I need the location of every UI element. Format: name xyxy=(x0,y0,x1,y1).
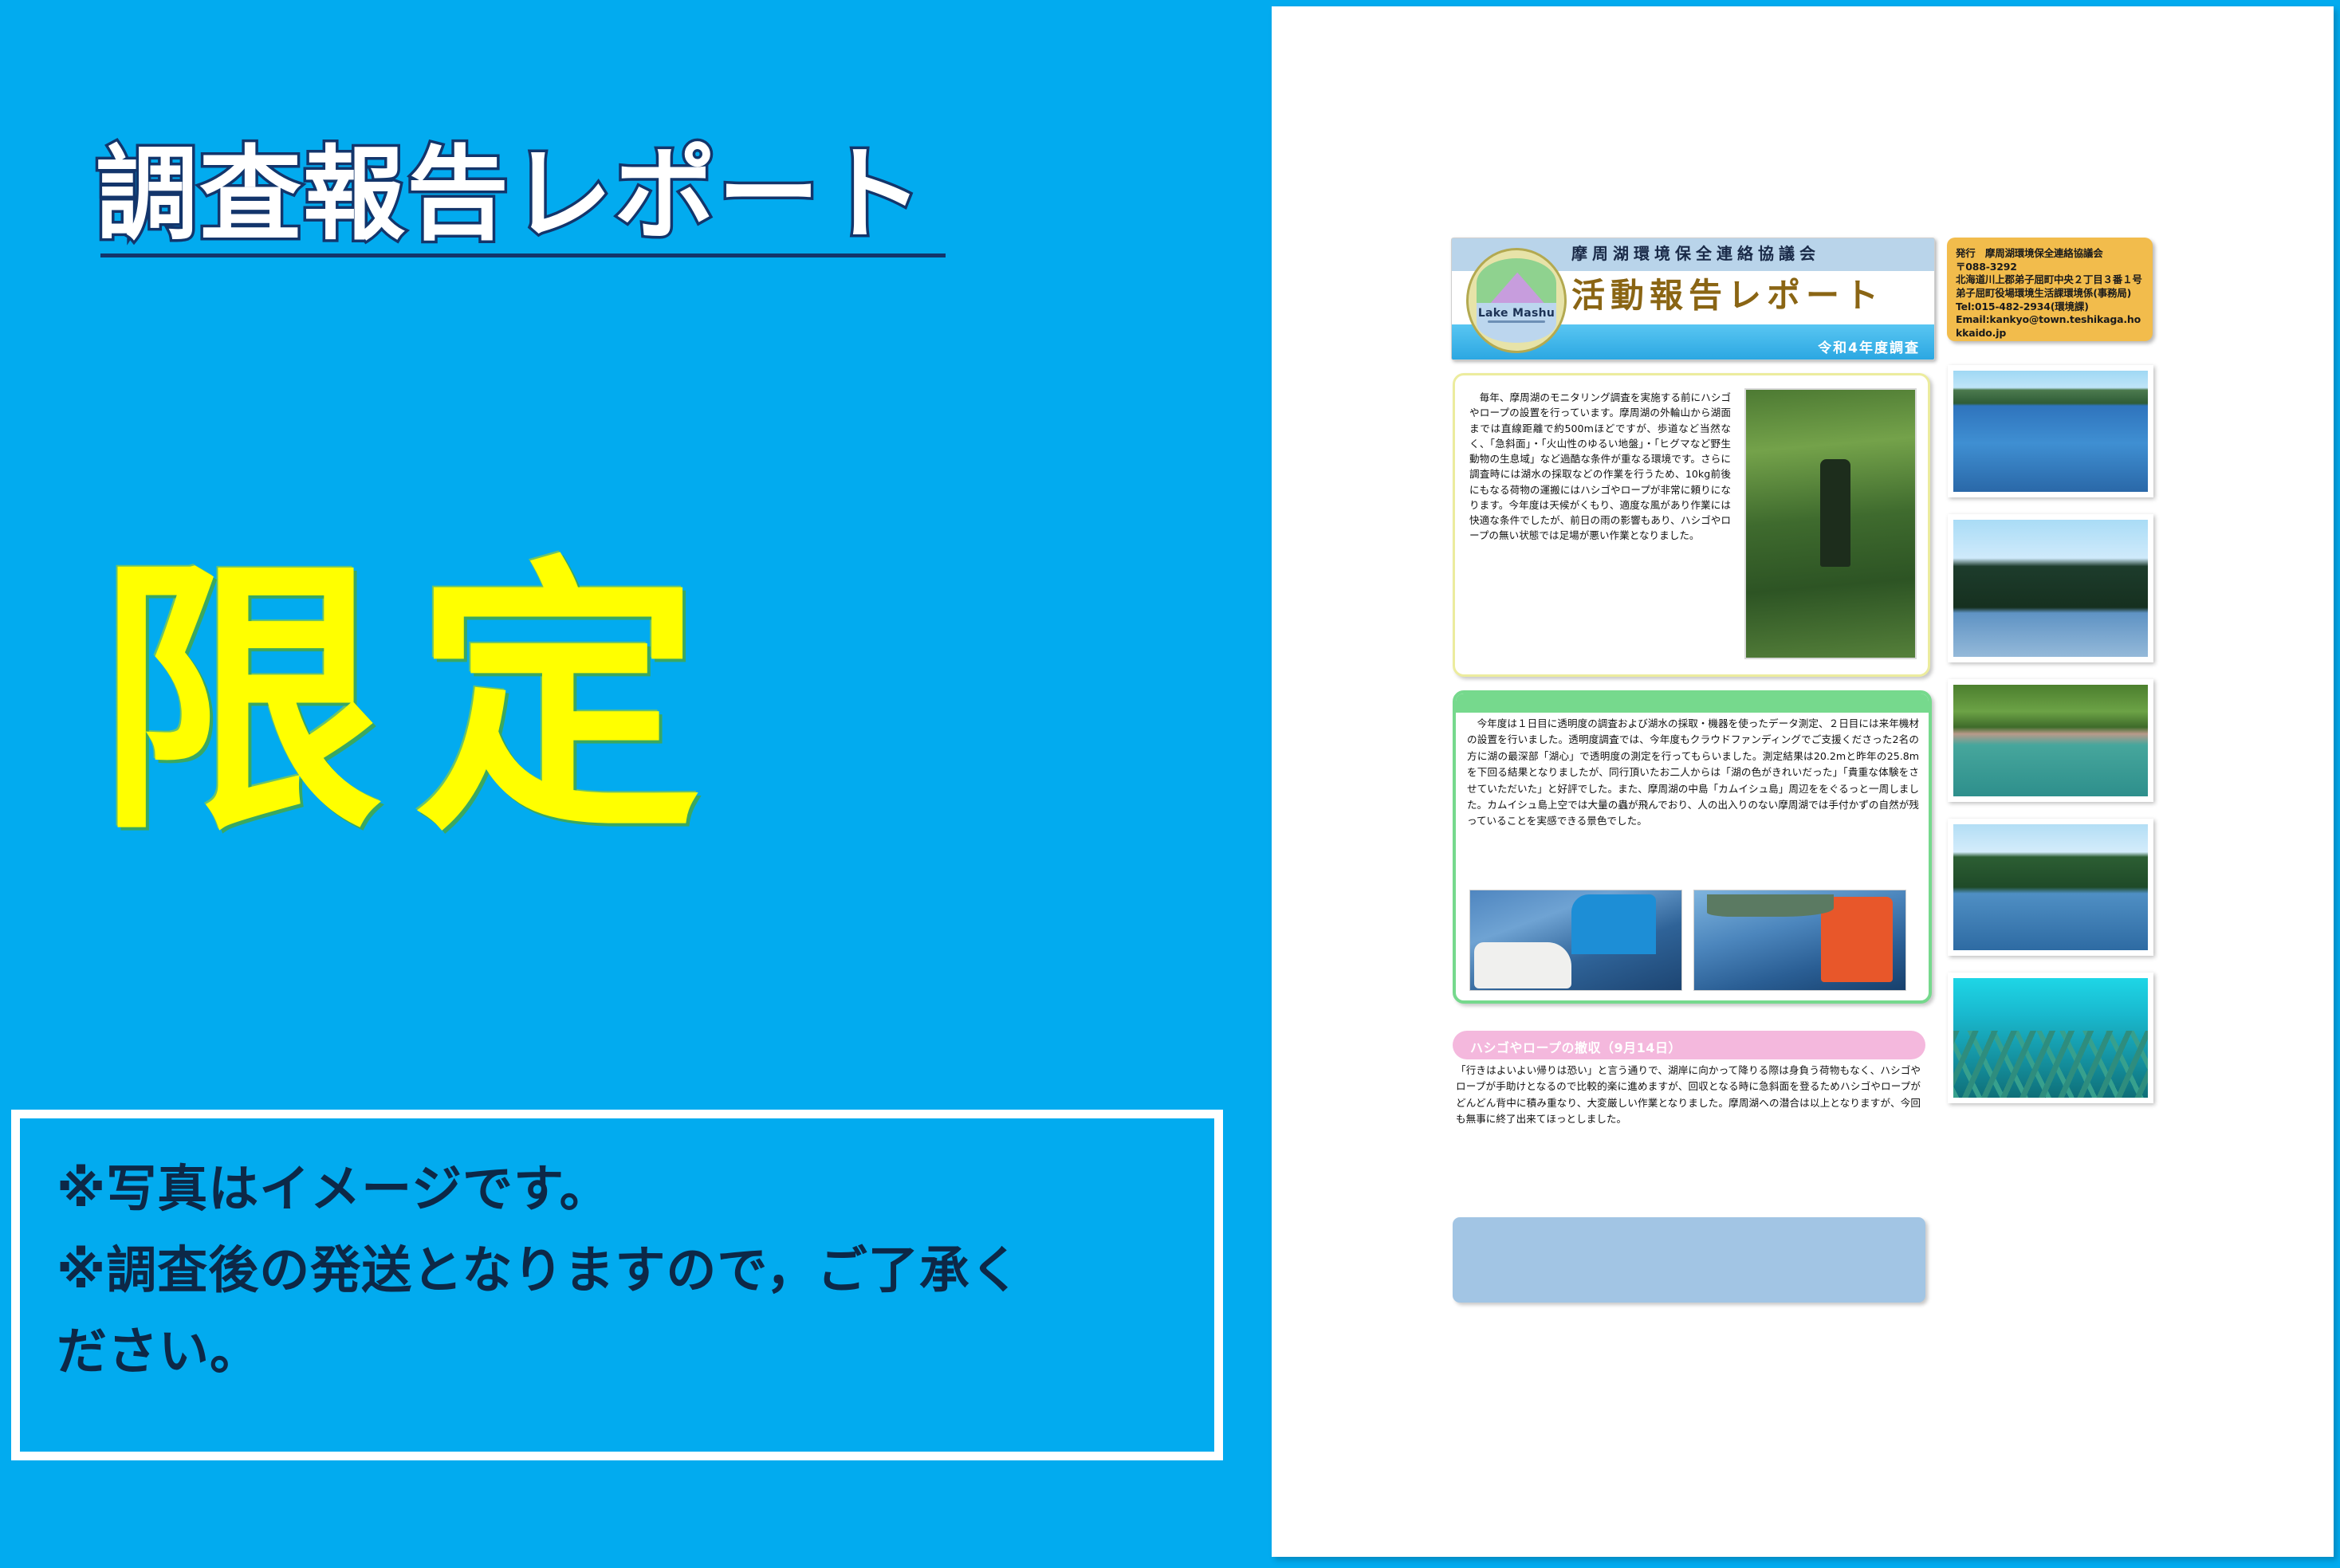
boat-equipment-photo xyxy=(1469,890,1682,991)
logo-wave-shape xyxy=(1488,320,1545,323)
photo-column xyxy=(1948,365,2153,1120)
report-document-panel: 摩周湖環境保全連絡協議会 活動報告レポート 令和4年度調査 Lake Mashu… xyxy=(1272,6,2334,1557)
notice-box: ※写真はイメージです。 ※調査後の発送となりますので，ご了承く ださい。 xyxy=(11,1110,1223,1460)
publisher-address: 北海道川上郡弟子屈町中央２丁目３番１号 xyxy=(1956,273,2144,287)
lifejacket-measuring-photo xyxy=(1693,890,1906,991)
setup-panel: 毎年、摩周湖のモニタリング調査を実施する前にハシゴやロープの設置を行っています。… xyxy=(1453,373,1930,677)
publisher-info-box: 発行 摩周湖環境保全連絡協議会 〒088-3292 北海道川上郡弟子屈町中央２丁… xyxy=(1947,238,2153,341)
promo-panel: 調査報告レポート 限定 ※写真はイメージです。 ※調査後の発送となりますので，ご… xyxy=(0,0,1272,1568)
underwater-branches-photo xyxy=(1953,978,2148,1098)
forest-trail-photo xyxy=(1744,388,1917,659)
logo-label: Lake Mashu xyxy=(1469,307,1564,320)
survey-panel-body: 今年度は１日目に透明度の調査および湖水の採取・機器を使ったデータ測定、２日目には… xyxy=(1467,716,1919,830)
report-title: 活動報告レポート xyxy=(1571,269,1884,317)
shoreline-cave-photo xyxy=(1953,685,2148,796)
survey-photo-row xyxy=(1469,890,1906,991)
publisher-line-1: 発行 摩周湖環境保全連絡協議会 xyxy=(1956,247,2144,261)
lake-boat-photo xyxy=(1953,371,2148,492)
survey-panel: 今年度は１日目に透明度の調査および湖水の採取・機器を使ったデータ測定、２日目には… xyxy=(1453,690,1932,1004)
report-page: 摩周湖環境保全連絡協議会 活動報告レポート 令和4年度調査 Lake Mashu… xyxy=(1272,6,2334,1557)
survey-panel-band xyxy=(1456,694,1929,713)
lake-cliff-photo xyxy=(1953,824,2148,950)
footer-placeholder-box xyxy=(1453,1217,1925,1303)
photo-card xyxy=(1948,679,2153,802)
notice-line-1: ※写真はイメージです。 xyxy=(57,1149,1187,1230)
header-banner: 摩周湖環境保全連絡協議会 活動報告レポート 令和4年度調査 Lake Mashu xyxy=(1451,238,1935,360)
lake-mashu-logo-icon: Lake Mashu xyxy=(1466,248,1567,353)
photo-card xyxy=(1948,514,2153,662)
notice-text: ※写真はイメージです。 ※調査後の発送となりますので，ご了承く ださい。 xyxy=(57,1149,1187,1393)
kamuishu-island-photo xyxy=(1953,520,2148,657)
title-underline xyxy=(100,253,946,257)
publisher-tel: Tel:015-482-2934(環境課) xyxy=(1956,301,2144,314)
report-header: 摩周湖環境保全連絡協議会 活動報告レポート 令和4年度調査 Lake Mashu xyxy=(1451,238,1933,359)
publisher-department: 弟子屈町役場環境生活課環境係(事務局) xyxy=(1956,287,2144,301)
setup-panel-body: 毎年、摩周湖のモニタリング調査を実施する前にハシゴやロープの設置を行っています。… xyxy=(1469,390,1731,544)
photo-card xyxy=(1948,365,2153,497)
notice-line-2: ※調査後の発送となりますので，ご了承く xyxy=(57,1230,1187,1311)
removal-section: ハシゴやロープの撤収（9月14日） 「行きはよいよい帰りは恐い」と言う通りで、湖… xyxy=(1453,1031,1925,1128)
removal-section-body: 「行きはよいよい帰りは恐い」と言う通りで、湖岸に向かって降りる際は身負う荷物もな… xyxy=(1453,1063,1925,1128)
limited-keyword: 限定 xyxy=(96,558,733,845)
page-title: 調査報告レポート xyxy=(96,142,925,249)
photo-card xyxy=(1948,819,2153,956)
fiscal-year-label: 令和4年度調査 xyxy=(1818,336,1920,356)
notice-line-3: ださい。 xyxy=(57,1311,1187,1393)
publisher-postal-code: 〒088-3292 xyxy=(1956,261,2144,274)
publisher-email: Email:kankyo@town.teshikaga.hokkaido.jp xyxy=(1956,313,2144,340)
removal-section-heading: ハシゴやロープの撤収（9月14日） xyxy=(1453,1031,1925,1059)
organization-name: 摩周湖環境保全連絡協議会 xyxy=(1571,241,1820,264)
photo-card xyxy=(1948,973,2153,1103)
